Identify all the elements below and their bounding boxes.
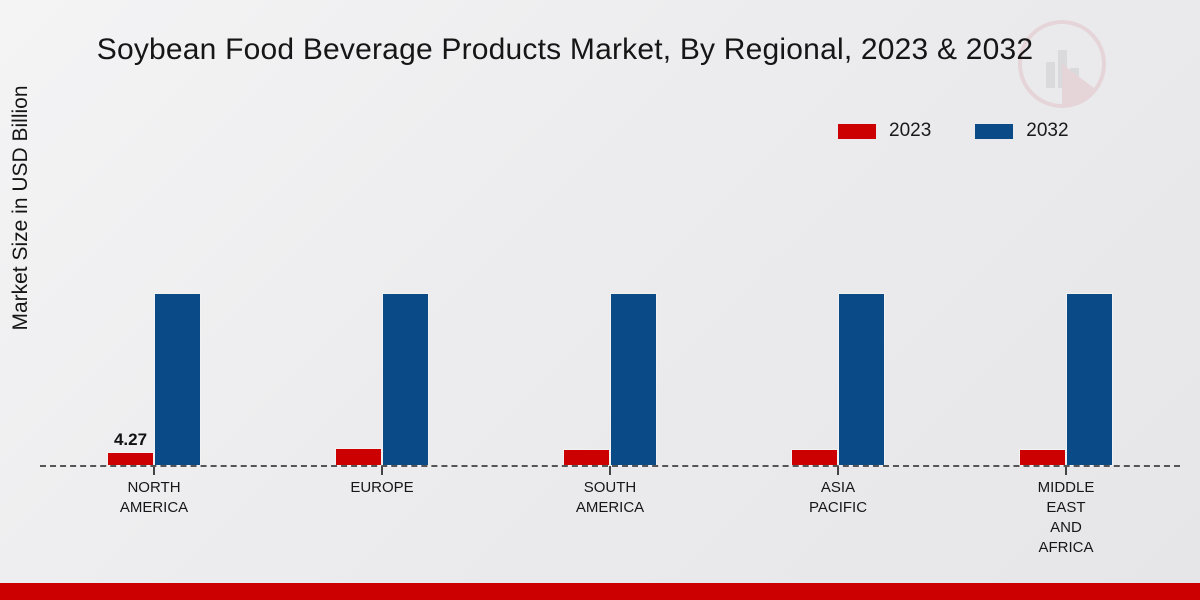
legend-label-2032: 2032: [1026, 120, 1068, 142]
bar-group-europe: [268, 180, 496, 466]
bar-2023-asia-pacific[interactable]: [791, 449, 838, 466]
bar-group-south-america: [496, 180, 724, 466]
bar-2032-north-america[interactable]: [154, 293, 201, 466]
x-axis-tick: [153, 466, 155, 475]
x-axis-tick: [381, 466, 383, 475]
bar-value-label: 4.27: [114, 430, 147, 450]
bar-2032-asia-pacific[interactable]: [838, 293, 885, 466]
x-axis-label-asia-pacific: ASIA PACIFIC: [724, 478, 952, 558]
bar-2032-europe[interactable]: [382, 293, 429, 466]
bar-group-middle-east-and-africa: [952, 180, 1180, 466]
x-axis-tick: [609, 466, 611, 475]
bars: [791, 293, 885, 466]
chart-legend: 2023 2032: [838, 120, 1069, 142]
x-axis-label-middle-east-and-africa: MIDDLE EAST AND AFRICA: [952, 478, 1180, 558]
bar-groups: 4.27: [40, 180, 1180, 466]
bar-2023-europe[interactable]: [335, 448, 382, 466]
legend-item-2032[interactable]: 2032: [975, 120, 1068, 142]
y-axis-title: Market Size in USD Billion: [9, 38, 41, 378]
legend-swatch-2032: [975, 124, 1013, 139]
bar-group-north-america: 4.27: [40, 180, 268, 466]
x-axis-labels: NORTH AMERICA EUROPE SOUTH AMERICA ASIA …: [40, 478, 1180, 558]
footer-accent-bar: [0, 583, 1200, 600]
chart-container: Soybean Food Beverage Products Market, B…: [0, 0, 1200, 600]
x-axis-tick: [1065, 466, 1067, 475]
x-axis-label-north-america: NORTH AMERICA: [40, 478, 268, 558]
bars: [1019, 293, 1113, 466]
bars: 4.27: [107, 293, 201, 466]
bars: [563, 293, 657, 466]
x-axis-label-europe: EUROPE: [268, 478, 496, 558]
bar-2023-middle-east-and-africa[interactable]: [1019, 449, 1066, 466]
chart-title: Soybean Food Beverage Products Market, B…: [0, 33, 1130, 67]
bar-2023-north-america[interactable]: 4.27: [107, 452, 154, 466]
legend-swatch-2023: [838, 124, 876, 139]
legend-label-2023: 2023: [889, 120, 931, 142]
bar-2032-middle-east-and-africa[interactable]: [1066, 293, 1113, 466]
bar-group-asia-pacific: [724, 180, 952, 466]
bar-2023-south-america[interactable]: [563, 449, 610, 466]
bar-2032-south-america[interactable]: [610, 293, 657, 466]
legend-item-2023[interactable]: 2023: [838, 120, 931, 142]
x-axis-label-south-america: SOUTH AMERICA: [496, 478, 724, 558]
x-axis-tick: [837, 466, 839, 475]
bars: [335, 293, 429, 466]
x-axis-baseline: [40, 465, 1180, 467]
